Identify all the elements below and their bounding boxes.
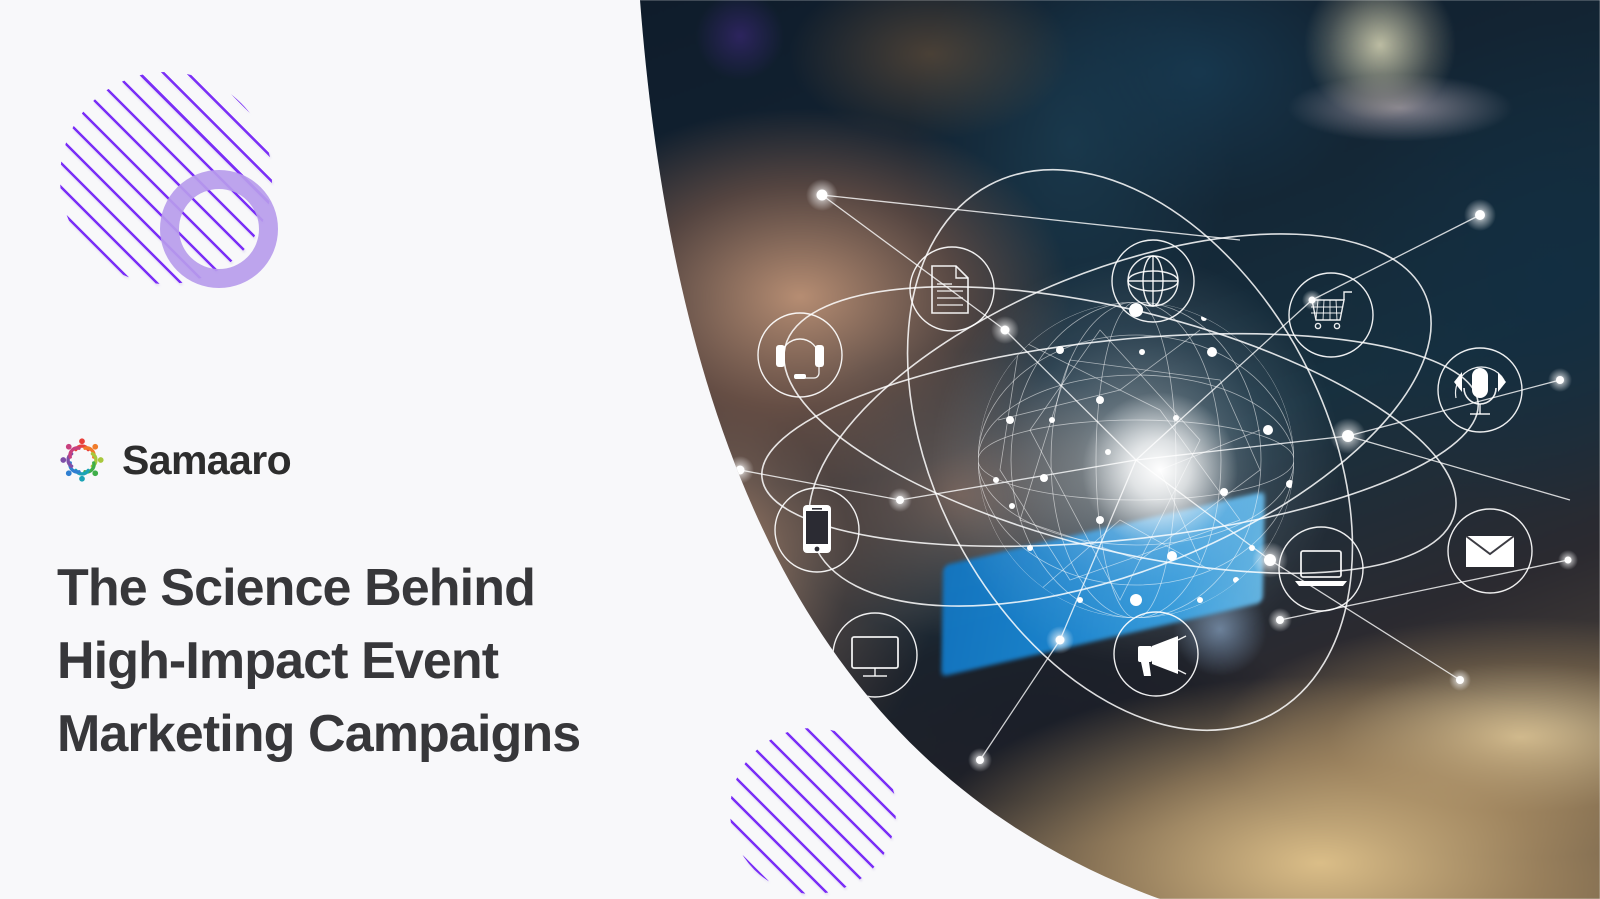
brand-wordmark: Samaaro	[122, 440, 291, 481]
ring-decoration	[160, 170, 278, 288]
monitor-icon	[833, 613, 917, 697]
stripe-circle-bottom-decoration	[730, 728, 896, 894]
smartphone-icon	[775, 488, 859, 572]
headline-line-2: High-Impact Event	[57, 625, 697, 698]
headline-line-1: The Science Behind	[57, 552, 697, 625]
document-icon	[910, 247, 994, 331]
brand-lockup[interactable]: Samaaro	[56, 434, 291, 486]
network-sphere	[931, 255, 1341, 665]
samaaro-logo-icon	[56, 434, 108, 486]
envelope-icon	[1448, 509, 1532, 593]
headset-icon	[758, 313, 842, 397]
page-title: The Science Behind High-Impact Event Mar…	[57, 552, 697, 770]
cart-icon	[1289, 273, 1373, 357]
banner-canvas: Samaaro The Science Behind High-Impact E…	[0, 0, 1600, 899]
headline-line-3: Marketing Campaigns	[57, 698, 697, 771]
microphone-icon	[1438, 348, 1522, 432]
